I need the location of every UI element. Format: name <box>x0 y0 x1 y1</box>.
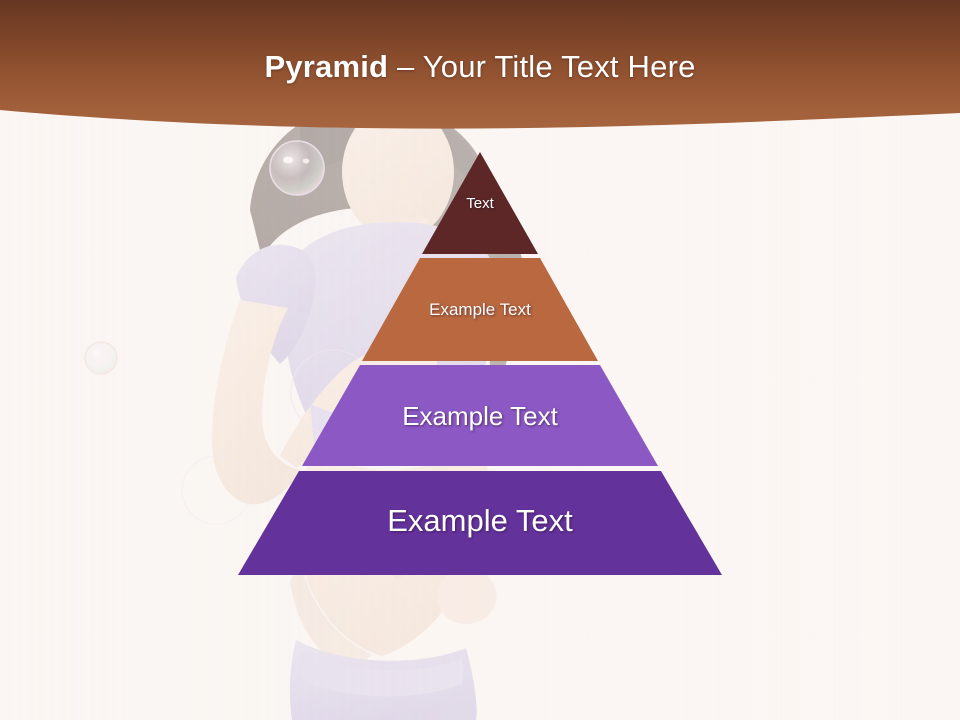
pyramid-tier-2-label: Example Text <box>0 300 960 320</box>
slide-canvas: Pyramid – Your Title Text Here Text Exam… <box>0 0 960 720</box>
pyramid-tier-1-label: Text <box>0 195 960 212</box>
pyramid-tier-4-label: Example Text <box>0 503 960 539</box>
pyramid-diagram: Text Example Text Example Text Example T… <box>0 0 960 720</box>
pyramid-tier-3-label: Example Text <box>0 401 960 432</box>
pyramid-shapes <box>0 0 960 720</box>
